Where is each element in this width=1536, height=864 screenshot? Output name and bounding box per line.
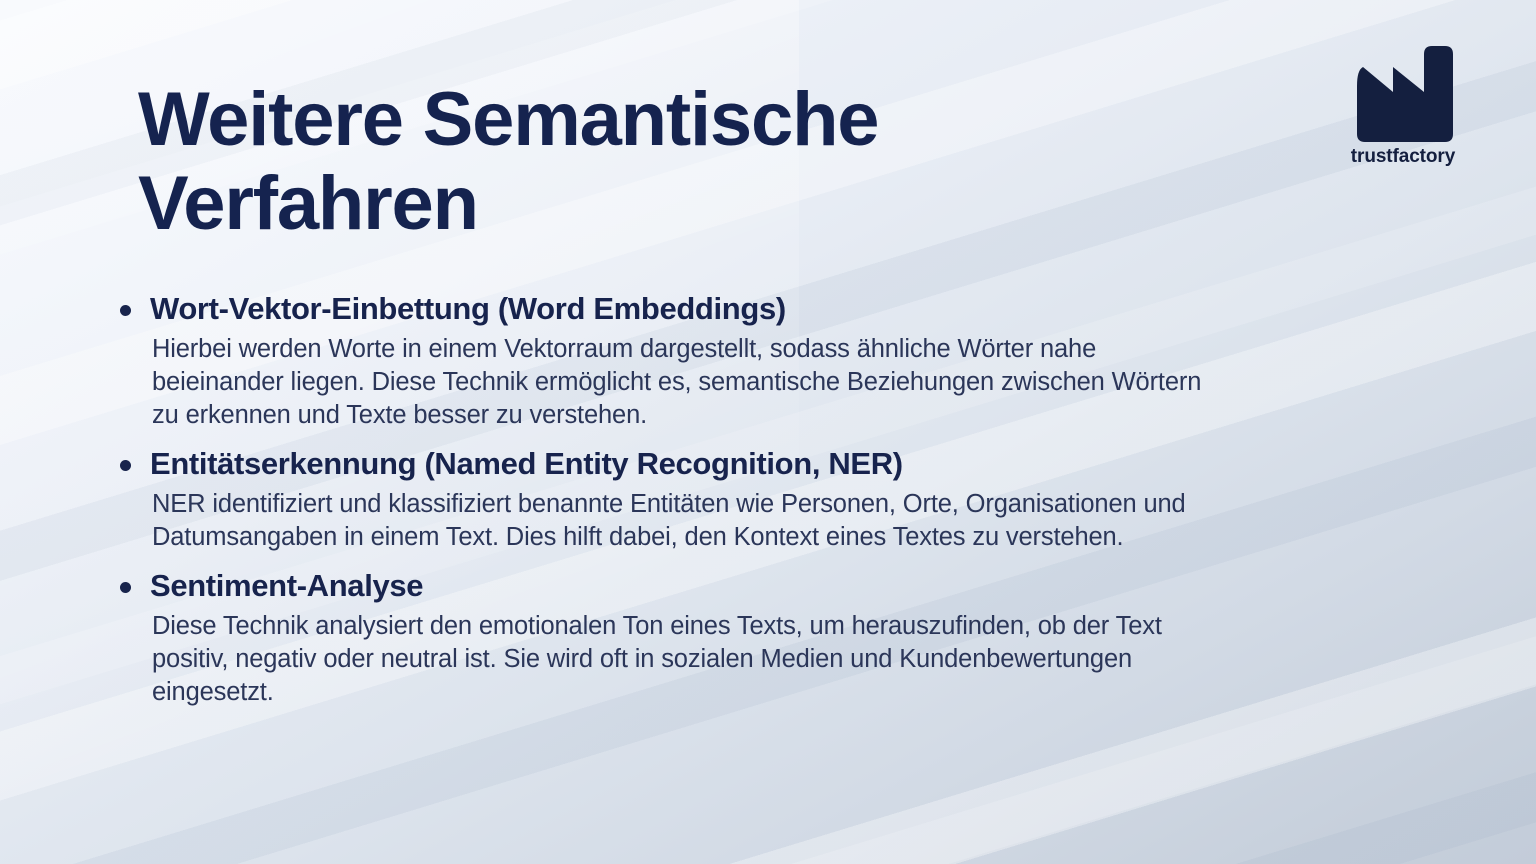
bullet-dot-icon bbox=[120, 460, 131, 471]
bullet-heading-row: Sentiment-Analyse bbox=[112, 567, 1442, 606]
presentation-slide: trustfactory Weitere Semantische Verfahr… bbox=[0, 0, 1536, 864]
bullet-body: Hierbei werden Worte in einem Vektorraum… bbox=[152, 333, 1232, 432]
brand-name: trustfactory bbox=[1336, 147, 1470, 166]
bullet-body: NER identifiziert und klassifiziert bena… bbox=[152, 488, 1232, 554]
bullet-heading: Sentiment-Analyse bbox=[150, 567, 423, 606]
bullet-heading-row: Entitätserkennung (Named Entity Recognit… bbox=[112, 445, 1442, 484]
factory-icon bbox=[1349, 46, 1457, 142]
bullet-item: Entitätserkennung (Named Entity Recognit… bbox=[112, 445, 1442, 554]
bullet-heading: Wort-Vektor-Einbettung (Word Embeddings) bbox=[150, 290, 786, 329]
slide-title: Weitere Semantische Verfahren bbox=[138, 78, 1138, 247]
bullet-dot-icon bbox=[120, 305, 131, 316]
bullet-dot-icon bbox=[120, 582, 131, 593]
brand-logo: trustfactory bbox=[1336, 46, 1470, 166]
bullet-item: Wort-Vektor-Einbettung (Word Embeddings)… bbox=[112, 290, 1442, 432]
bullet-heading: Entitätserkennung (Named Entity Recognit… bbox=[150, 445, 903, 484]
bullet-heading-row: Wort-Vektor-Einbettung (Word Embeddings) bbox=[112, 290, 1442, 329]
bullet-list: Wort-Vektor-Einbettung (Word Embeddings)… bbox=[112, 290, 1442, 709]
bullet-item: Sentiment-Analyse Diese Technik analysie… bbox=[112, 567, 1442, 709]
bullet-body: Diese Technik analysiert den emotionalen… bbox=[152, 610, 1232, 709]
